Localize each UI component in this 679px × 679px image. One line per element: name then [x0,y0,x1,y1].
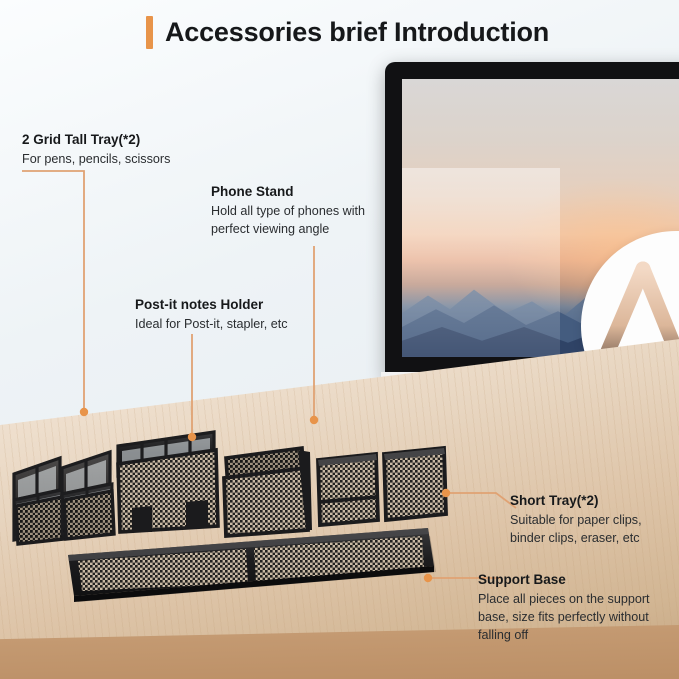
callout-desc: For pens, pencils, scissors [22,151,237,169]
wallpaper-window-glare [402,168,560,357]
product-short-tray-1 [318,454,378,525]
product-tall-tray-1 [14,458,64,544]
callout-title: Post-it notes Holder [135,296,350,314]
product-tall-tray-2 [62,452,114,539]
callout-desc: Place all pieces on the support base, si… [478,591,674,645]
monitor-screen [402,79,679,357]
callout-desc: Ideal for Post-it, stapler, etc [135,316,350,334]
callout-two-grid-tall-tray: 2 Grid Tall Tray(*2) For pens, pencils, … [22,131,237,169]
callout-title: 2 Grid Tall Tray(*2) [22,131,237,149]
product-phone-stand [224,448,312,536]
callout-title: Phone Stand [211,183,403,201]
product-infographic: Accessories brief Introduction 2 Grid Ta… [0,0,679,679]
callout-title: Short Tray(*2) [510,492,678,510]
product-short-tray-2 [384,448,446,520]
callout-title: Support Base [478,571,674,589]
callout-desc: Hold all type of phones with perfect vie… [211,203,403,239]
callout-post-it-notes-holder: Post-it notes Holder Ideal for Post-it, … [135,296,350,334]
product-postit-holder [118,432,218,532]
page-title: Accessories brief Introduction [146,16,549,49]
title-accent-bar [146,16,153,49]
title-text: Accessories brief Introduction [165,17,549,48]
callout-short-tray: Short Tray(*2) Suitable for paper clips,… [510,492,678,548]
callout-desc: Suitable for paper clips, binder clips, … [510,512,678,548]
callout-support-base: Support Base Place all pieces on the sup… [478,571,674,645]
monitor-bezel [385,62,679,378]
callout-phone-stand: Phone Stand Hold all type of phones with… [211,183,403,239]
product-support-base [68,528,436,602]
